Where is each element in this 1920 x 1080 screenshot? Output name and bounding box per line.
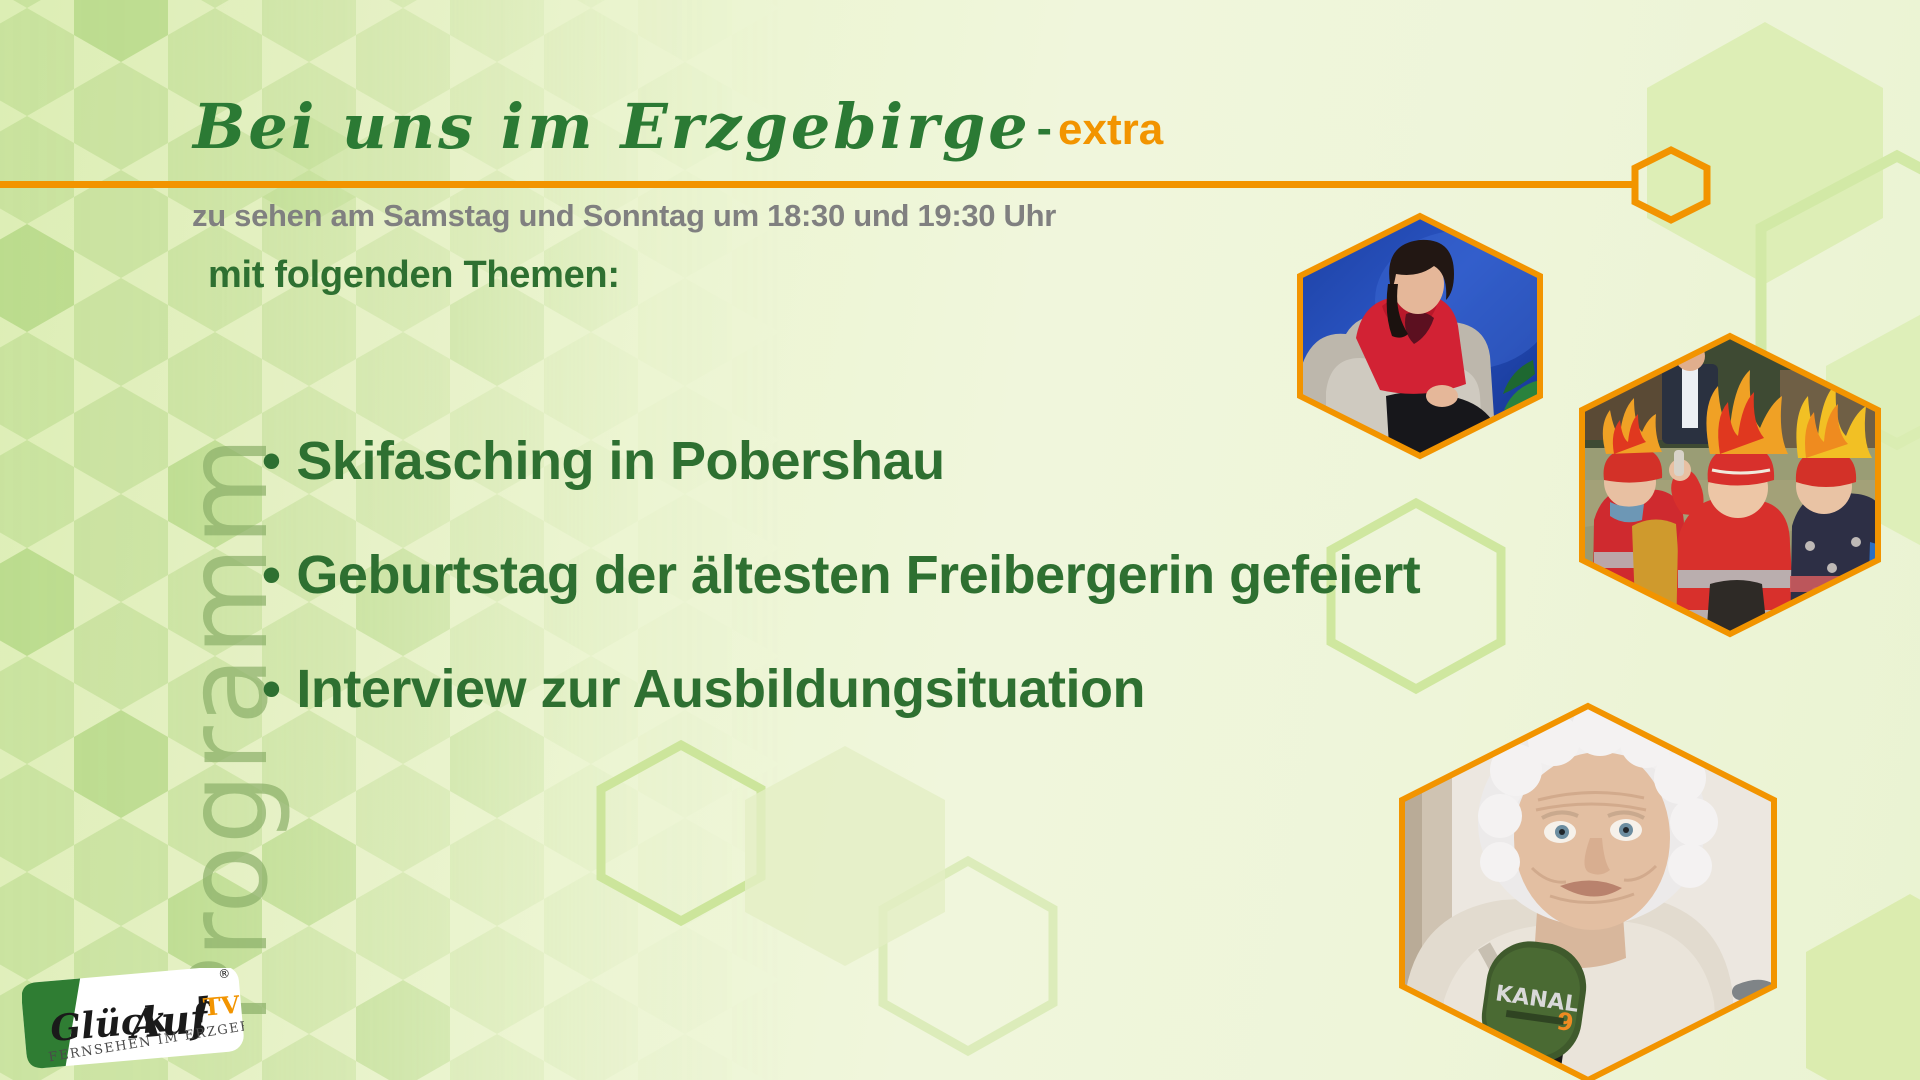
bullet-dot-icon: • (262, 434, 280, 488)
logo-registered-icon: ® (218, 968, 231, 981)
title-extra-badge: extra (1058, 105, 1163, 154)
glueckauf-tv-logo: Glück Auf ! TV ® FERNSEHEN IM ERZGEBIRGE (22, 968, 244, 1074)
broadcast-program-slide: Bei uns im Erzgebirge-extra zu sehen am … (0, 0, 1920, 1080)
orange-hexagon-end-cap (1628, 146, 1714, 224)
page-title: Bei uns im Erzgebirge-extra (193, 96, 1163, 158)
orange-divider-rule (0, 181, 1636, 188)
logo-tv: TV (202, 990, 241, 1022)
list-item: • Interview zur Ausbildungsituation (262, 658, 1562, 720)
title-dash: - (1031, 102, 1058, 154)
photo-hexagon-children-flame-crowns (1570, 330, 1890, 640)
title-script-part: Bei uns im Erzgebirge (193, 90, 1031, 163)
photo-hexagon-elderly-woman-interview: KANAL 9 (1388, 700, 1788, 1080)
photo-hexagon-woman-red-jacket (1290, 210, 1550, 462)
topic-label: Skifasching in Pobershau (296, 430, 944, 492)
bullet-dot-icon: • (262, 662, 280, 716)
topic-label: Interview zur Ausbildungsituation (296, 658, 1145, 720)
bullet-dot-icon: • (262, 548, 280, 602)
list-item: • Geburtstag der ältesten Freibergerin g… (262, 544, 1562, 606)
broadcast-schedule-text: zu sehen am Samstag und Sonntag um 18:30… (192, 198, 1056, 234)
topics-list: • Skifasching in Pobershau • Geburtstag … (262, 430, 1562, 772)
topic-label: Geburtstag der ältesten Freibergerin gef… (296, 544, 1420, 606)
